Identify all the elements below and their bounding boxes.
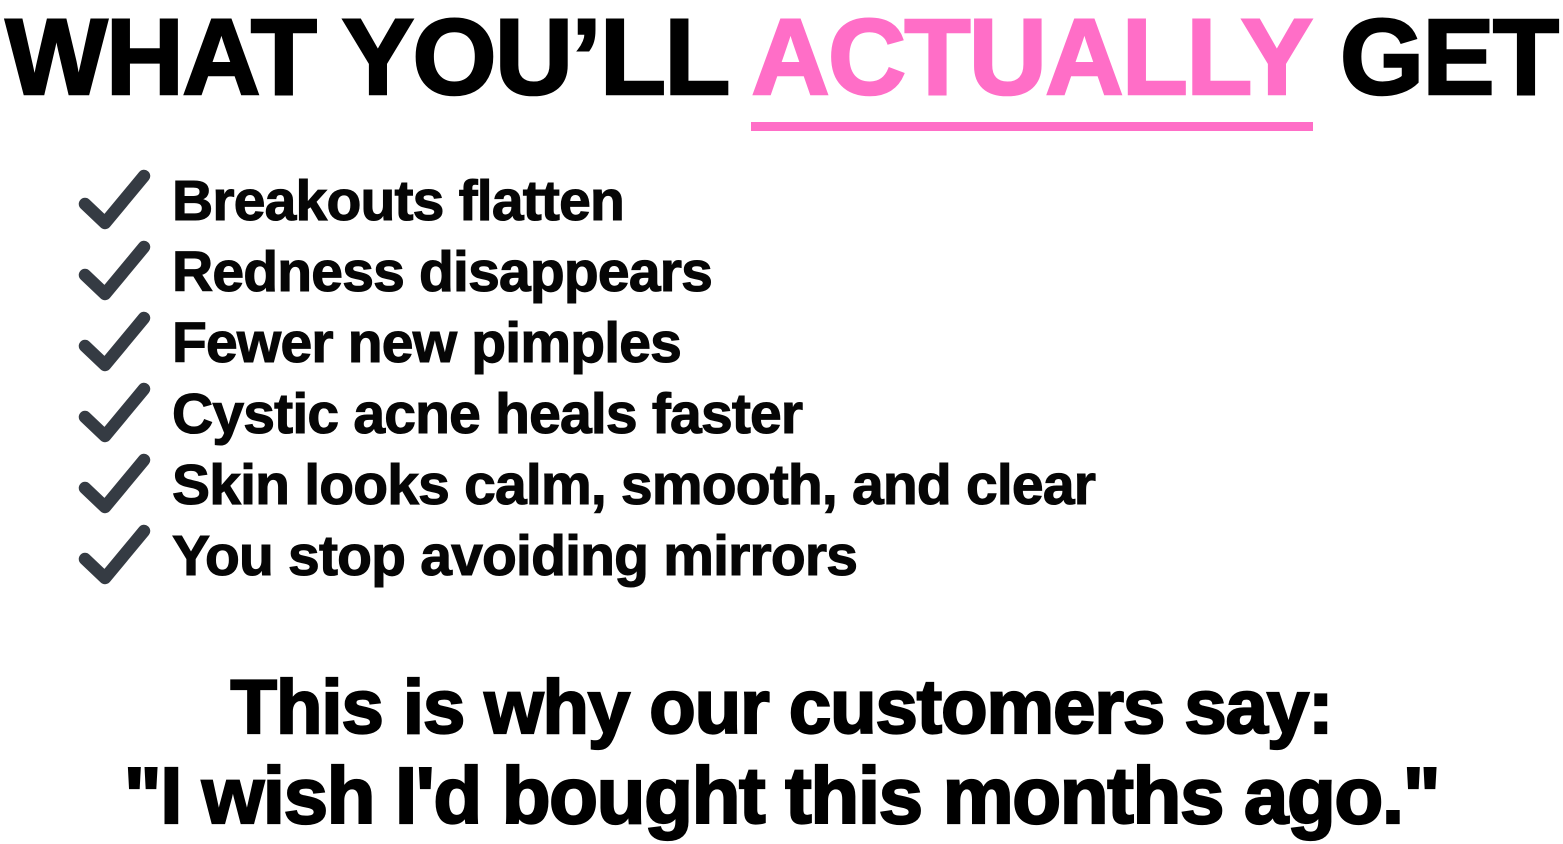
check-icon [74,379,156,450]
list-item-label: Cystic acne heals faster [172,383,802,445]
customer-quote: "I wish I'd bought this months ago." [0,752,1563,840]
poster-canvas: WHAT YOU’LL ACTUALLY GET Breakouts flatt… [0,0,1563,844]
list-item: Breakouts flatten [74,166,1514,237]
list-item: Redness disappears [74,237,1514,308]
list-item-label: Redness disappears [172,241,712,303]
check-icon [74,521,156,592]
page-title-after: GET [1311,0,1557,117]
list-item: Cystic acne heals faster [74,379,1514,450]
check-icon [74,450,156,521]
list-item-label: Breakouts flatten [172,170,624,232]
check-icon [74,308,156,379]
page-title: WHAT YOU’LL ACTUALLY GET [0,2,1563,112]
list-item: You stop avoiding mirrors [74,521,1514,592]
closing-lead: This is why our customers say: [0,664,1563,752]
page-title-before: WHAT YOU’LL [5,0,751,117]
check-icon [74,237,156,308]
benefits-checklist: Breakouts flatten Redness disappears Few… [74,166,1514,592]
list-item: Fewer new pimples [74,308,1514,379]
check-icon [74,166,156,237]
list-item-label: You stop avoiding mirrors [172,525,857,587]
list-item-label: Fewer new pimples [172,312,681,374]
list-item: Skin looks calm, smooth, and clear [74,450,1514,521]
list-item-label: Skin looks calm, smooth, and clear [172,454,1095,516]
page-title-accent: ACTUALLY [751,0,1311,119]
closing-block: This is why our customers say: "I wish I… [0,664,1563,840]
